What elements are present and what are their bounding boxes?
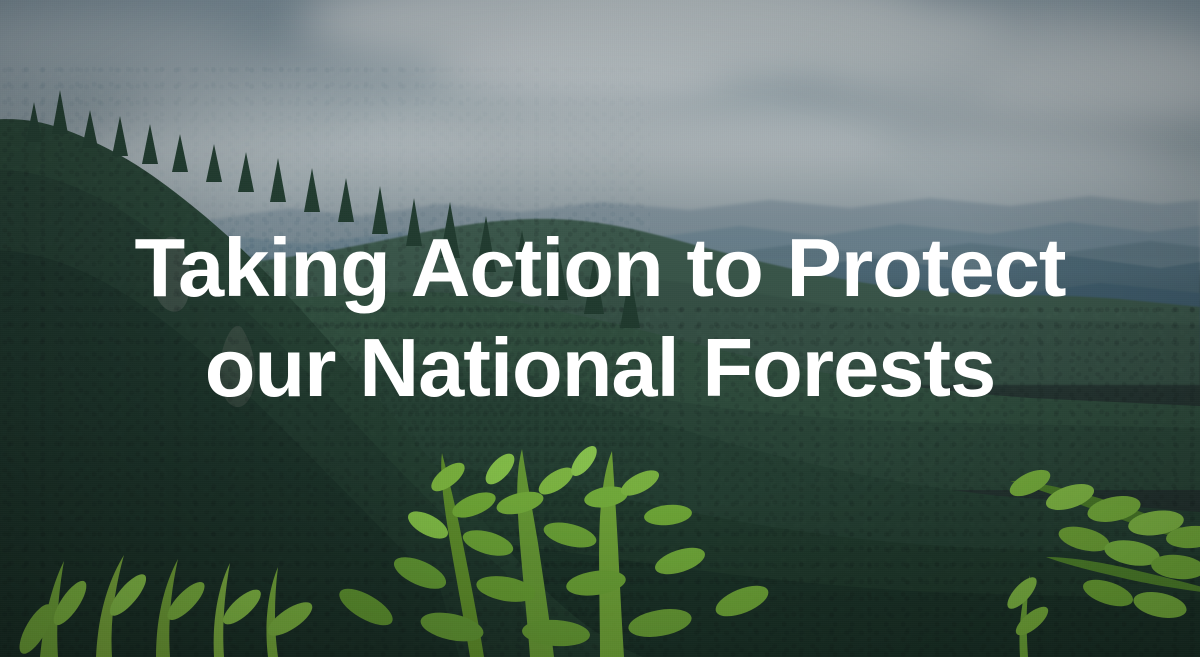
headline-container: Taking Action to Protect our National Fo…	[0, 0, 1200, 657]
hero-banner: Taking Action to Protect our National Fo…	[0, 0, 1200, 657]
headline-line-1: Taking Action to Protect	[80, 219, 1120, 317]
page-title: Taking Action to Protect our National Fo…	[80, 219, 1120, 417]
headline-line-2: our National Forests	[80, 319, 1120, 417]
